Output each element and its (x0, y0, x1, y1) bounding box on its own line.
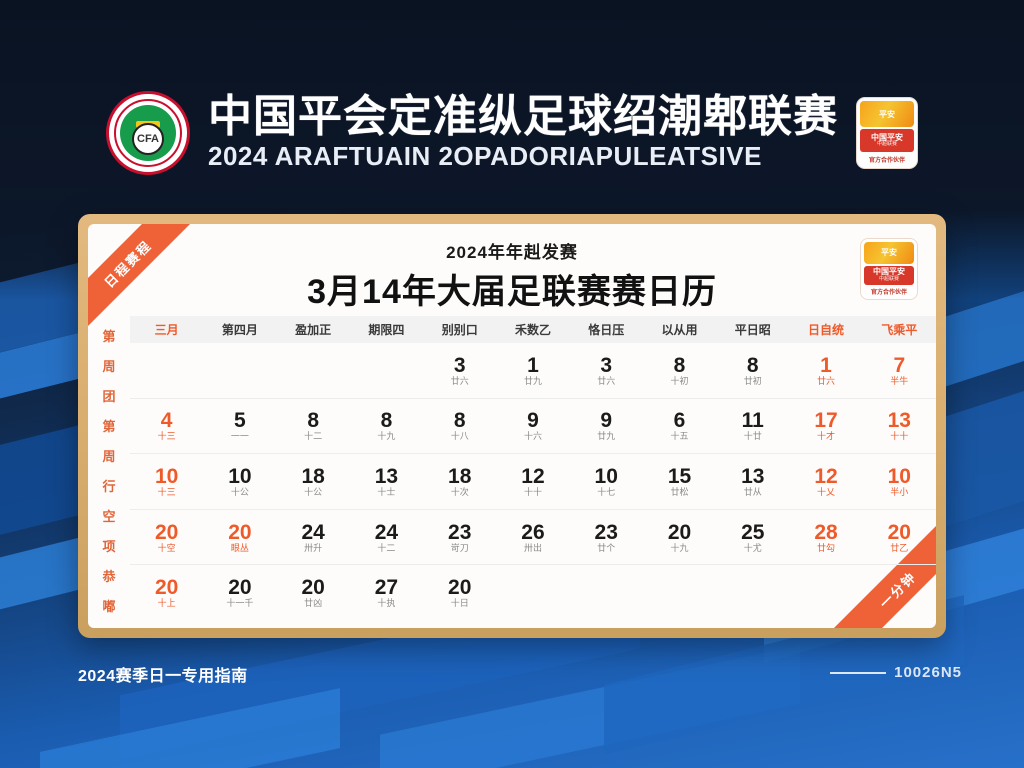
calendar-day-cell[interactable]: 8十初 (643, 343, 716, 398)
calendar-day-number: 24 (375, 522, 398, 543)
calendar-day-lunar: 廿从 (744, 488, 762, 497)
calendar-day-lunar: 卅升 (304, 544, 322, 553)
calendar-row-label: 恭 (88, 560, 130, 590)
calendar-day-cell[interactable]: 13十士 (350, 454, 423, 509)
calendar-day-cell[interactable]: 18十次 (423, 454, 496, 509)
calendar-day-number: 20 (155, 577, 178, 598)
calendar-day-lunar: 廿六 (597, 377, 615, 386)
calendar-day-number: 13 (375, 466, 398, 487)
calendar-day-number: 1 (527, 355, 539, 376)
calendar-day-number: 10 (595, 466, 618, 487)
calendar-card: 日程赛程 一分钟 2024年年赳发赛 3月14年大届足联赛赛日历 2024 RU… (88, 224, 936, 628)
calendar-day-lunar: 十三 (158, 488, 176, 497)
calendar-day-cell[interactable]: 1廿九 (496, 343, 569, 398)
calendar-day-cell[interactable]: 10十公 (203, 454, 276, 509)
calendar-day-number: 28 (814, 522, 837, 543)
calendar-row-label: 项 (88, 530, 130, 560)
calendar-day-cell[interactable]: 9廿九 (570, 399, 643, 454)
calendar-day-lunar: 十七 (597, 488, 615, 497)
calendar-day-cell[interactable]: 11十廿 (716, 399, 789, 454)
calendar-row-label: 周 (88, 440, 130, 470)
calendar-day-lunar: 十公 (304, 488, 322, 497)
calendar-day-number: 15 (668, 466, 691, 487)
sponsor-name-line2: 中超联赛 (879, 277, 899, 282)
calendar-row-label: 周 (88, 350, 130, 380)
calendar-day-cell[interactable]: 28廿勾 (789, 510, 862, 565)
calendar-column-header: 日自统 (789, 321, 862, 338)
sponsor-footnote: 官方合作伙伴 (864, 287, 914, 296)
calendar-heading: 2024年年赳发赛 3月14年大届足联赛赛日历 2024 RURSUALAN T… (88, 224, 936, 330)
calendar-day-cell[interactable]: 20十日 (423, 565, 496, 620)
calendar-day-number: 20 (888, 522, 911, 543)
calendar-day-cell[interactable]: 8十二 (277, 399, 350, 454)
calendar-day-lunar: 廿勾 (817, 544, 835, 553)
calendar-day-cell[interactable]: 13十十 (863, 399, 936, 454)
calendar-day-number: 10 (155, 466, 178, 487)
calendar-day-cell[interactable]: 24十二 (350, 510, 423, 565)
calendar-day-number: 20 (668, 522, 691, 543)
calendar-sponsor-badge: 平安 中国平安 中超联赛 官方合作伙伴 (860, 238, 918, 300)
calendar-row-labels: 第周团第周行空项恭嘟 (88, 316, 130, 620)
calendar-day-number: 26 (521, 522, 544, 543)
calendar-day-cell[interactable]: 6十五 (643, 399, 716, 454)
calendar-day-number: 24 (301, 522, 324, 543)
calendar-day-lunar: 十八 (451, 432, 469, 441)
calendar-day-number: 6 (674, 410, 686, 431)
calendar-day-lunar: 十士 (377, 488, 395, 497)
calendar-day-lunar: 十三 (158, 432, 176, 441)
footer-right: 10026N5 (830, 664, 962, 681)
calendar-day-cell[interactable]: 23廿个 (570, 510, 643, 565)
calendar-day-number: 20 (301, 577, 324, 598)
calendar-day-number: 8 (674, 355, 686, 376)
calendar-day-cell[interactable]: 8十八 (423, 399, 496, 454)
sponsor-footnote: 官方合作伙伴 (860, 154, 914, 165)
calendar-day-lunar: 廿六 (451, 377, 469, 386)
calendar-day-cell[interactable]: 10十三 (130, 454, 203, 509)
calendar-day-cell[interactable]: 3廿六 (423, 343, 496, 398)
calendar-column-header: 禾数乙 (496, 321, 569, 338)
calendar-day-lunar: 廿凶 (304, 599, 322, 608)
calendar-day-lunar: 廿乙 (890, 544, 908, 553)
calendar-day-cell[interactable]: 20廿凶 (277, 565, 350, 620)
calendar-heading-small: 2024年年赳发赛 (88, 238, 936, 263)
calendar-column-header: 平日昭 (716, 321, 789, 338)
calendar-day-cell[interactable]: 20十九 (643, 510, 716, 565)
calendar-day-cell[interactable]: 17十才 (789, 399, 862, 454)
calendar-day-cell[interactable]: 20十一千 (203, 565, 276, 620)
calendar-day-lunar: 十日 (451, 599, 469, 608)
calendar-day-lunar: 十廿 (744, 432, 762, 441)
calendar-day-cell[interactable]: 23岢刀 (423, 510, 496, 565)
calendar-day-cell[interactable]: 24卅升 (277, 510, 350, 565)
calendar-day-cell[interactable]: 26卅出 (496, 510, 569, 565)
calendar-day-lunar: 眼丛 (231, 544, 249, 553)
calendar-day-number: 7 (893, 355, 905, 376)
calendar-row-label: 行 (88, 470, 130, 500)
calendar-day-number: 8 (307, 410, 319, 431)
calendar-day-cell[interactable]: 7半牛 (863, 343, 936, 398)
calendar-day-cell[interactable]: 13廿从 (716, 454, 789, 509)
calendar-week-row: 20十空20眼丛24卅升24十二23岢刀26卅出23廿个20十九25十尤28廿勾… (130, 510, 936, 566)
calendar-row-label: 空 (88, 500, 130, 530)
calendar-row-label: 第 (88, 320, 130, 350)
emblem-field: CFA (120, 105, 176, 161)
calendar-day-lunar: 十六 (524, 432, 542, 441)
sponsor-logo-icon: 平安 (860, 101, 914, 127)
sponsor-name-block: 中国平安 中超联赛 (864, 266, 914, 285)
calendar-day-number: 9 (527, 410, 539, 431)
calendar-day-cell[interactable]: 1廿六 (789, 343, 862, 398)
calendar-day-lunar: 十公 (231, 488, 249, 497)
calendar-day-number: 8 (747, 355, 759, 376)
calendar-day-number: 17 (814, 410, 837, 431)
calendar-day-lunar: 廿松 (670, 488, 688, 497)
calendar-day-number: 11 (742, 410, 764, 431)
calendar-day-cell[interactable]: 12十乂 (789, 454, 862, 509)
calendar-row-label: 团 (88, 380, 130, 410)
calendar-day-cell[interactable]: 20眼丛 (203, 510, 276, 565)
page-title-cn: 中国平会定准纵足球绍潮郫联赛 (208, 95, 838, 140)
calendar-day-number: 8 (454, 410, 466, 431)
calendar-day-lunar: 十初 (670, 377, 688, 386)
calendar-day-cell[interactable]: 3廿六 (570, 343, 643, 398)
calendar-day-cell[interactable]: 15廿松 (643, 454, 716, 509)
calendar-day-cell[interactable]: 10半小 (863, 454, 936, 509)
calendar-day-lunar: 岢刀 (451, 544, 469, 553)
calendar-day-cell[interactable]: 18十公 (277, 454, 350, 509)
calendar-day-lunar: 十九 (377, 432, 395, 441)
calendar-day-lunar: 半牛 (890, 377, 908, 386)
calendar-day-number: 18 (301, 466, 324, 487)
calendar-day-cell[interactable]: 10十七 (570, 454, 643, 509)
calendar-day-number: 13 (888, 410, 911, 431)
calendar-day-number: 25 (741, 522, 764, 543)
calendar-day-cell[interactable]: 20十空 (130, 510, 203, 565)
calendar-column-header: 期限四 (350, 321, 423, 338)
cfa-emblem-icon: CFA (106, 91, 190, 175)
calendar-day-number: 20 (228, 577, 251, 598)
calendar-header-row: 三月第四月盈加正期限四别别口禾数乙恪日压以从用平日昭日自统飞乘平 (130, 316, 936, 343)
calendar-card-frame: 日程赛程 一分钟 2024年年赳发赛 3月14年大届足联赛赛日历 2024 RU… (78, 214, 946, 638)
calendar-day-lunar: 廿九 (524, 377, 542, 386)
page-title-en: 2024 ARAFTUAIN 2OPADORIAPULEATSIVE (208, 142, 762, 171)
calendar-column-header: 盈加正 (277, 321, 350, 338)
calendar-day-number: 12 (814, 466, 837, 487)
calendar-heading-main: 3月14年大届足联赛赛日历 (88, 264, 936, 313)
calendar-day-lunar: 廿个 (597, 544, 615, 553)
calendar-day-lunar: 廿九 (597, 432, 615, 441)
calendar-day-lunar: 十五 (670, 432, 688, 441)
calendar-day-lunar: 十十 (890, 432, 908, 441)
emblem-football-icon: CFA (132, 123, 164, 155)
sponsor-name-block: 中国平安 中超联赛 (860, 129, 914, 152)
calendar-column-header: 三月 (130, 321, 203, 338)
poster-root: CFA 中国平会定准纵足球绍潮郫联赛 2024 ARAFTUAIN 2OPADO… (0, 0, 1024, 768)
calendar-day-lunar: 一一 (231, 432, 249, 441)
calendar-day-number: 13 (741, 466, 764, 487)
calendar-day-number: 1 (820, 355, 832, 376)
header-sponsor-badge: 平安 中国平安 中超联赛 官方合作伙伴 (856, 97, 918, 169)
calendar-day-number: 23 (448, 522, 471, 543)
calendar-day-cell[interactable]: 27十执 (350, 565, 423, 620)
calendar-day-number: 20 (228, 522, 251, 543)
sponsor-logo-icon: 平安 (864, 242, 914, 264)
calendar-day-lunar: 十执 (377, 599, 395, 608)
calendar-day-number: 9 (600, 410, 612, 431)
calendar-day-lunar: 十十 (524, 488, 542, 497)
calendar-day-lunar: 十九 (670, 544, 688, 553)
calendar-row-label: 第 (88, 410, 130, 440)
calendar-body: 第周团第周行空项恭嘟 三月第四月盈加正期限四别别口禾数乙恪日压以从用平日昭日自统… (88, 316, 936, 620)
calendar-column-header: 以从用 (643, 321, 716, 338)
calendar-day-cell[interactable]: 9十六 (496, 399, 569, 454)
calendar-row-label: 嘟 (88, 590, 130, 620)
calendar-day-number: 10 (228, 466, 251, 487)
calendar-day-lunar: 卅出 (524, 544, 542, 553)
calendar-day-number: 27 (375, 577, 398, 598)
calendar-day-cell[interactable]: 20廿乙 (863, 510, 936, 565)
calendar-day-number: 20 (155, 522, 178, 543)
calendar-day-number: 23 (595, 522, 618, 543)
calendar-day-lunar: 十次 (451, 488, 469, 497)
calendar-week-row: 20十上20十一千20廿凶27十执20十日 (130, 565, 936, 620)
calendar-day-cell[interactable]: 5一一 (203, 399, 276, 454)
footer-rule-icon (830, 672, 886, 674)
calendar-day-number: 10 (888, 466, 911, 487)
calendar-day-lunar: 廿六 (817, 377, 835, 386)
calendar-day-lunar: 廿初 (744, 377, 762, 386)
calendar-day-number: 8 (381, 410, 393, 431)
calendar-column-header: 恪日压 (570, 321, 643, 338)
calendar-week-row: 3廿六1廿九3廿六8十初8廿初1廿六7半牛 (130, 343, 936, 399)
title-block: 中国平会定准纵足球绍潮郫联赛 2024 ARAFTUAIN 2OPADORIAP… (208, 95, 838, 170)
calendar-week-row: 4十三5一一8十二8十九8十八9十六9廿九6十五11十廿17十才13十十 (130, 399, 936, 455)
calendar-day-lunar: 十二 (304, 432, 322, 441)
calendar-day-number: 5 (234, 410, 246, 431)
calendar-day-number: 18 (448, 466, 471, 487)
calendar-day-cell[interactable]: 25十尤 (716, 510, 789, 565)
calendar-day-lunar: 十尤 (744, 544, 762, 553)
calendar-day-lunar: 十上 (158, 599, 176, 608)
calendar-day-lunar: 十才 (817, 432, 835, 441)
calendar-column-header: 第四月 (203, 321, 276, 338)
calendar-day-number: 20 (448, 577, 471, 598)
calendar-day-lunar: 十二 (377, 544, 395, 553)
poster-header: CFA 中国平会定准纵足球绍潮郫联赛 2024 ARAFTUAIN 2OPADO… (0, 78, 1024, 188)
calendar-day-cell[interactable]: 20十上 (130, 565, 203, 620)
calendar-grid: 三月第四月盈加正期限四别别口禾数乙恪日压以从用平日昭日自统飞乘平 3廿六1廿九3… (130, 316, 936, 620)
calendar-day-number: 12 (521, 466, 544, 487)
calendar-day-lunar: 十空 (158, 544, 176, 553)
calendar-column-header: 飞乘平 (863, 321, 936, 338)
footer-left-text: 2024赛季日一专用指南 (78, 662, 248, 686)
calendar-week-rows: 3廿六1廿九3廿六8十初8廿初1廿六7半牛4十三5一一8十二8十九8十八9十六9… (130, 343, 936, 620)
calendar-day-lunar: 十一千 (226, 599, 253, 608)
calendar-day-cell[interactable]: 12十十 (496, 454, 569, 509)
calendar-day-number: 3 (454, 355, 466, 376)
calendar-day-number: 4 (161, 410, 173, 431)
calendar-week-row: 10十三10十公18十公13十士18十次12十十10十七15廿松13廿从12十乂… (130, 454, 936, 510)
calendar-day-cell[interactable]: 8十九 (350, 399, 423, 454)
calendar-day-number: 3 (600, 355, 612, 376)
calendar-day-cell[interactable]: 4十三 (130, 399, 203, 454)
calendar-column-header: 别别口 (423, 321, 496, 338)
sponsor-name-line2: 中超联赛 (877, 142, 897, 147)
footer-right-text: 10026N5 (894, 664, 962, 681)
calendar-day-lunar: 十乂 (817, 488, 835, 497)
calendar-day-lunar: 半小 (890, 488, 908, 497)
calendar-day-cell[interactable]: 8廿初 (716, 343, 789, 398)
